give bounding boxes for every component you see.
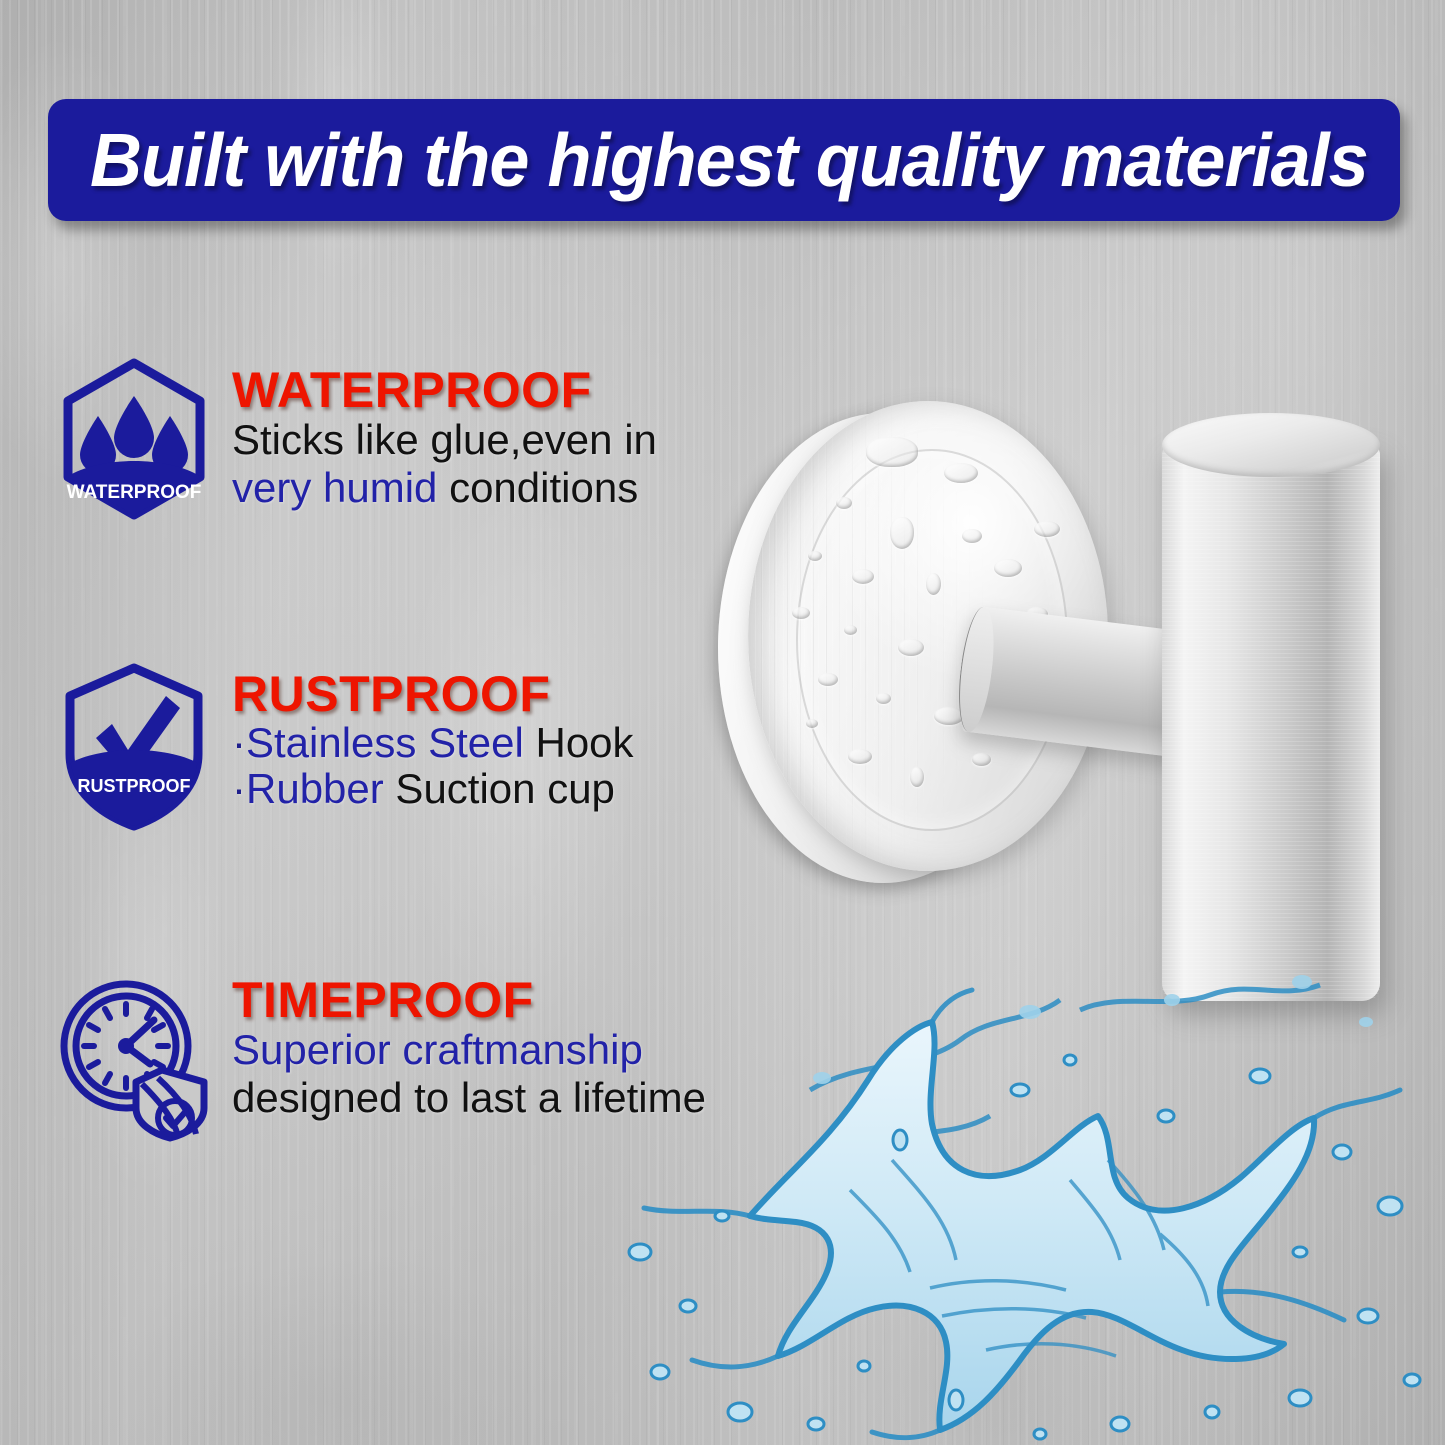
rustproof-text-block: RUSTPROOF ·Stainless Steel Hook ·Rubber … (232, 662, 634, 812)
timeproof-line-2: designed to last a lifetime (232, 1074, 706, 1122)
hook-post (1162, 441, 1380, 1001)
header-banner-title: Built with the highest quality materials (90, 117, 1368, 203)
waterproof-badge-label: WATERPROOF (67, 482, 202, 503)
waterproof-line-2: very humid conditions (232, 464, 657, 512)
rustproof-line-2-seg-2: Suction cup (384, 765, 615, 812)
waterproof-line-2-seg-1: very humid (232, 464, 437, 511)
feature-timeproof: TIMEPROOF Superior craftmanship designed… (58, 968, 706, 1138)
waterproof-line-1-seg-1: Sticks like glue,even in (232, 416, 657, 463)
rustproof-heading: RUSTPROOF (232, 668, 634, 720)
feature-waterproof: WATERPROOF WATERPROOF Sticks like glue,e… (58, 358, 657, 528)
waterproof-line-1: Sticks like glue,even in (232, 416, 657, 464)
rustproof-line-2-seg-1: Rubber (246, 765, 384, 812)
timeproof-line-1: Superior craftmanship (232, 1026, 706, 1074)
rustproof-line-1: ·Stainless Steel Hook (232, 720, 634, 766)
hook-post-cap (1162, 413, 1380, 477)
waterproof-hexagon-icon: WATERPROOF (58, 358, 210, 528)
timeproof-clock-shield-icon (58, 968, 210, 1138)
product-image-suction-hook (700, 395, 1445, 1055)
rustproof-line-1-seg-2: Hook (524, 719, 634, 766)
waterproof-heading: WATERPROOF (232, 364, 657, 416)
rustproof-line-2-bullet: · (232, 765, 246, 812)
waterproof-text-block: WATERPROOF Sticks like glue,even in very… (232, 358, 657, 512)
timeproof-heading: TIMEPROOF (232, 974, 706, 1026)
rustproof-line-2: ·Rubber Suction cup (232, 766, 634, 812)
infographic-canvas: Built with the highest quality materials (0, 0, 1445, 1445)
rustproof-line-1-bullet: · (232, 719, 246, 766)
rustproof-line-1-seg-1: Stainless Steel (246, 719, 524, 766)
header-banner: Built with the highest quality materials (48, 99, 1400, 221)
timeproof-text-block: TIMEPROOF Superior craftmanship designed… (232, 968, 706, 1122)
rustproof-badge-label: RUSTPROOF (77, 776, 190, 796)
timeproof-line-2-seg-1: designed to last a lifetime (232, 1074, 706, 1121)
feature-rustproof: RUSTPROOF RUSTPROOF ·Stainless Steel Hoo… (58, 662, 634, 832)
rustproof-shield-check-icon: RUSTPROOF (58, 662, 210, 832)
waterproof-line-2-seg-2: conditions (437, 464, 638, 511)
timeproof-line-1-seg-1: Superior craftmanship (232, 1026, 643, 1073)
